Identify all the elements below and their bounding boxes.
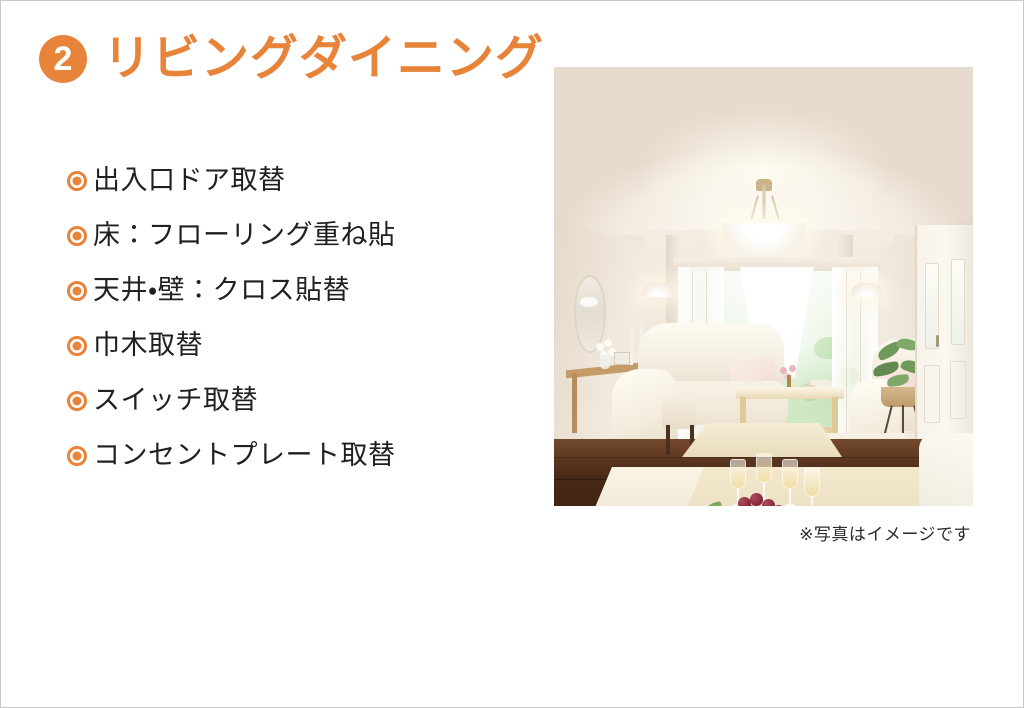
entry-door	[915, 225, 973, 457]
bullet-icon	[67, 281, 87, 301]
list-item: 巾木取替	[67, 318, 527, 373]
wall-sconce-left	[642, 283, 674, 297]
grape	[738, 497, 751, 506]
flower-vase	[600, 355, 610, 369]
list-item: 床：フローリング重ね貼	[67, 208, 527, 263]
bullet-icon	[67, 391, 87, 411]
room-photo-scene	[554, 67, 973, 506]
champagne-flute	[782, 459, 798, 506]
door-panel	[950, 361, 966, 419]
table-centerpiece	[778, 365, 800, 389]
far-dining-chair-leg	[666, 425, 670, 455]
slide-page: 2 リビングダイニング 出入口ドア取替 床：フローリング重ね貼 天井・壁：クロス…	[0, 0, 1024, 708]
door-handle	[936, 335, 939, 347]
foreground-dining-chair	[919, 433, 973, 506]
grape	[762, 499, 775, 506]
coffee-table-top	[736, 387, 844, 399]
far-table-surface	[682, 423, 842, 457]
feature-list: 出入口ドア取替 床：フローリング重ね貼 天井・壁：クロス貼替 巾木取替 スイッチ…	[67, 153, 527, 483]
curtain-fold	[846, 271, 847, 435]
list-item: スイッチ取替	[67, 373, 527, 428]
mirror-reflection	[580, 297, 598, 307]
bullet-icon	[67, 171, 87, 191]
champagne-flute	[804, 467, 820, 506]
list-item: 天井・壁：クロス貼替	[67, 263, 527, 318]
page-title: 2 リビングダイニング	[39, 35, 544, 83]
console-table-leg	[572, 373, 577, 433]
photo-disclaimer-caption: ※写真はイメージです	[799, 520, 971, 545]
section-number-badge: 2	[39, 35, 87, 83]
list-item-label: スイッチ取替	[93, 386, 258, 416]
room-photo	[554, 67, 973, 506]
list-item: 出入口ドア取替	[67, 153, 527, 208]
door-glass-pane	[951, 259, 965, 345]
bullet-icon	[67, 446, 87, 466]
list-item-label: 巾木取替	[93, 331, 203, 361]
section-title-text: リビングダイニング	[103, 35, 544, 83]
list-item-label: 出入口ドア取替	[93, 166, 286, 196]
bullet-icon	[67, 336, 87, 356]
door-panel	[924, 365, 940, 423]
wall-sconce-right	[851, 283, 883, 297]
list-item-label: 天井・壁：クロス貼替	[93, 276, 350, 306]
list-item: コンセントプレート取替	[67, 428, 527, 483]
list-item-label: コンセントプレート取替	[93, 441, 396, 471]
bullet-icon	[67, 226, 87, 246]
list-item-label: 床：フローリング重ね貼	[93, 221, 396, 251]
